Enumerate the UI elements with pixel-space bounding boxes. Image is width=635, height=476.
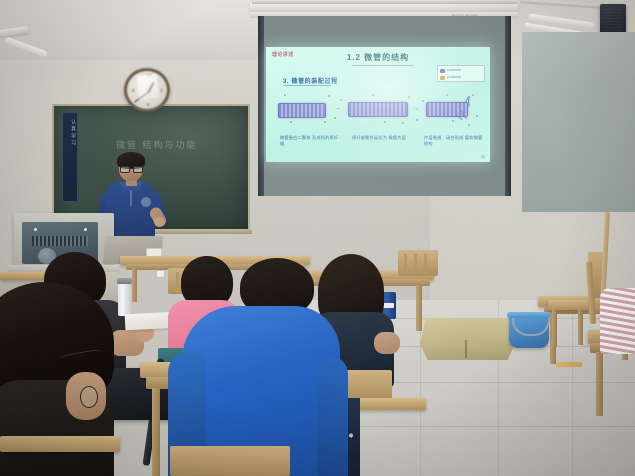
legend-swatch-beta: [440, 76, 445, 80]
chalk-writing: 微管 结构与功能: [116, 138, 198, 151]
protofilament-stage-1: [278, 103, 326, 118]
glasses-icon: [80, 386, 98, 408]
glasses-bridge: [129, 168, 133, 169]
presenter-hand: [154, 217, 165, 227]
arrow-2: →: [412, 105, 419, 112]
legend-label-beta: β-tubulin: [447, 74, 461, 81]
screen-edge-left: [258, 16, 264, 196]
slide-subtitle: 3. 微管的装配过程: [283, 76, 338, 85]
desk-label-tag: [156, 270, 165, 278]
thermos-cap: [117, 278, 132, 284]
board-side-poster: 认真学习: [62, 112, 78, 202]
chair-foreground: [170, 446, 290, 476]
student-torso: [600, 288, 635, 354]
board-poster-text: 认真学习: [63, 119, 77, 147]
screen-edge-right: [505, 16, 511, 196]
sheet-stage-2: [348, 102, 408, 117]
slide-subtitle-rule: [283, 85, 331, 86]
ceiling-rail: [252, 0, 518, 4]
classroom-photo: MITSUBISHI 理论讲述 1.2 微管的结构 3. 微管的装配过程 α-t…: [0, 0, 635, 476]
wall-clock: 12 3 6 9: [124, 68, 170, 112]
console-indicator-b: [84, 228, 87, 231]
microtubule-diagram: → →: [276, 93, 480, 129]
diagram-caption-2: 原纤维聚合延长为 微管片层: [352, 135, 414, 141]
legend-swatch-alpha: [440, 69, 445, 73]
slide-title: 1.2 微管的结构: [266, 52, 490, 63]
floor-marking: [556, 362, 582, 367]
slide-page-number: 25: [481, 155, 485, 159]
slide-title-rule: [352, 65, 414, 66]
projected-slide: 理论讲述 1.2 微管的结构 3. 微管的装配过程 α-tubulin β-tu…: [266, 47, 490, 162]
presenter-placket: [130, 190, 132, 206]
thermos-bottle: [118, 282, 131, 316]
student-arm: [374, 332, 400, 354]
microtubule-stage-3: [426, 102, 468, 117]
screen-surface: [522, 32, 635, 212]
diagram-caption-1: 微管蛋白二聚体 形成短的原纤维: [280, 135, 342, 147]
slide-legend: α-tubulin β-tubulin: [437, 65, 485, 82]
presenter-shirt-logo: [141, 197, 151, 207]
diagram-caption-3: 片层卷拢、闭合形成 管状微管结构: [424, 135, 486, 147]
desk-foreground-left: [0, 436, 120, 452]
legend-item: α-tubulin: [440, 67, 482, 74]
wooden-platform: [420, 318, 515, 360]
arrow-1: →: [334, 105, 341, 112]
console-vent: [32, 236, 88, 246]
platform-seam: [465, 340, 467, 358]
student-arm-right: [318, 356, 348, 476]
console-indicator-a: [34, 228, 37, 231]
clock-glare: [137, 74, 159, 100]
glasses-right-lens: [133, 166, 143, 173]
legend-label-alpha: α-tubulin: [447, 67, 461, 74]
legend-item: β-tubulin: [440, 74, 482, 81]
frond: [467, 98, 470, 107]
